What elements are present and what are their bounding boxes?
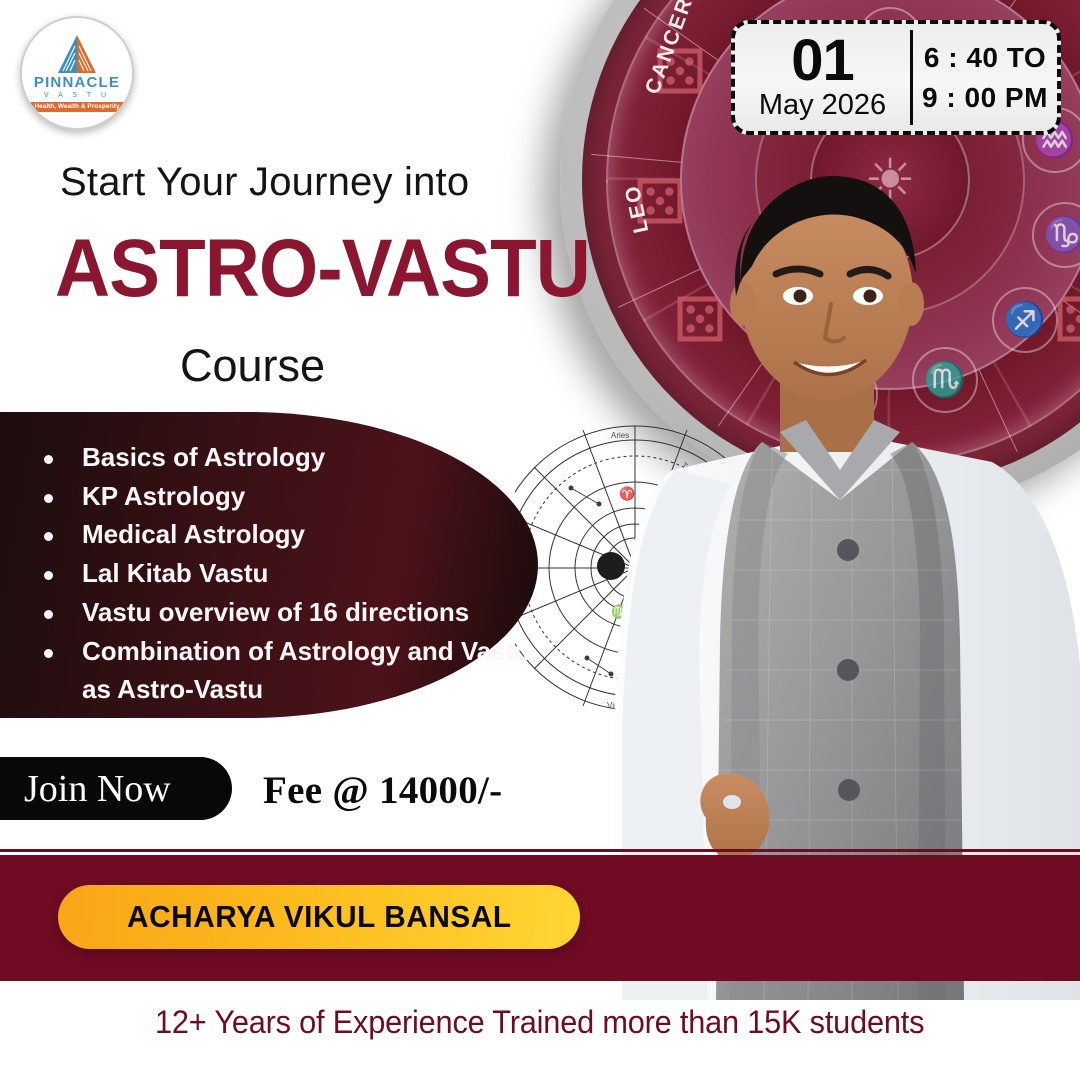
list-item: Combination of Astrology and Vastu as As… — [62, 632, 538, 709]
fee-label: Fee @ 14000/- — [263, 768, 502, 813]
logo-tagline: Health, Wealth & Prosperity — [29, 102, 124, 112]
list-item: KP Astrology — [62, 477, 538, 516]
pyramid-logo-icon — [46, 34, 108, 74]
list-item: Vastu overview of 16 directions — [62, 593, 538, 632]
page-title: ASTRO-VASTU — [55, 222, 590, 316]
course-topics-panel: Basics of Astrology KP Astrology Medical… — [0, 412, 538, 718]
divider-line — [0, 849, 1080, 852]
course-topics-list: Basics of Astrology KP Astrology Medical… — [0, 412, 538, 709]
poster-canvas: ⚄ ⚄ ⚄ ⚄ ⚄ ♑ ♓ ♒ ♑ ♐ ♏ ♎ ♌ ☀ GEMINI CANCE… — [0, 0, 1080, 1080]
footer-tagline: 12+ Years of Experience Trained more tha… — [0, 1004, 1080, 1041]
time-end: 9 : 00 PM — [922, 78, 1048, 118]
logo-subtitle: V A S T U — [44, 90, 110, 101]
list-item: Basics of Astrology — [62, 438, 538, 477]
event-date-badge: 01 May 2026 6 : 40 TO 9 : 00 PM — [731, 20, 1061, 135]
time-start: 6 : 40 TO — [924, 38, 1046, 78]
list-item: Medical Astrology — [62, 515, 538, 554]
list-item: Lal Kitab Vastu — [62, 554, 538, 593]
join-now-label: Join Now — [24, 767, 171, 811]
date-month-year: May 2026 — [759, 90, 886, 122]
headline-kicker: Start Your Journey into — [60, 160, 469, 205]
date-day: 01 — [791, 33, 854, 88]
presenter-name-badge: ACHARYA VIKUL BANSAL — [58, 885, 580, 949]
presenter-name: ACHARYA VIKUL BANSAL — [127, 899, 512, 935]
brand-logo[interactable]: PINNACLE V A S T U Health, Wealth & Pros… — [20, 16, 134, 130]
date-block: 01 May 2026 — [735, 24, 910, 131]
headline-suffix: Course — [180, 340, 325, 392]
time-block: 6 : 40 TO 9 : 00 PM — [913, 24, 1057, 131]
logo-name: PINNACLE — [34, 75, 120, 90]
join-now-button[interactable]: Join Now — [0, 757, 232, 820]
